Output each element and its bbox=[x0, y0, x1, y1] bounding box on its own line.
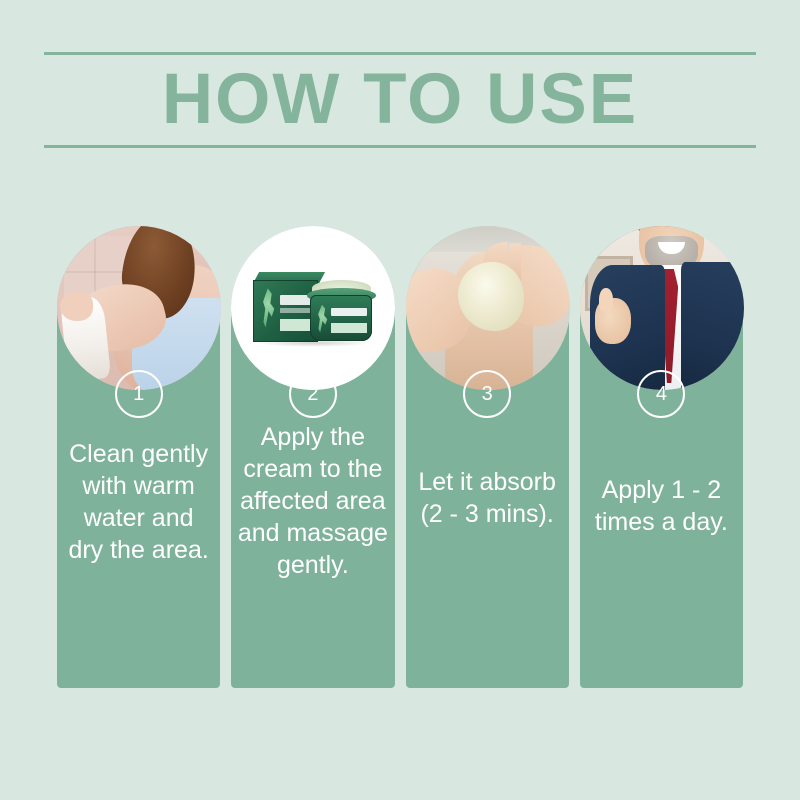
step-image-2 bbox=[231, 226, 395, 390]
step-image-3 bbox=[406, 226, 570, 390]
step-number-badge-1: 1 bbox=[115, 370, 163, 418]
step-caption-3: Let it absorb (2 - 3 mins). bbox=[412, 466, 563, 530]
how-to-use-infographic: HOW TO USE 1 Clean gently with warm wate… bbox=[0, 0, 800, 800]
step-number-badge-2: 2 bbox=[289, 370, 337, 418]
step-card-2: 2 Apply the cream to the affected area a… bbox=[231, 226, 394, 688]
step-card-4: 4 Apply 1 - 2 times a day. bbox=[580, 226, 743, 688]
step-card-3: 3 Let it absorb (2 - 3 mins). bbox=[406, 226, 569, 688]
illustration-man-thumbs-up bbox=[580, 226, 744, 390]
step-caption-2: Apply the cream to the affected area and… bbox=[237, 421, 388, 581]
header: HOW TO USE bbox=[44, 52, 756, 148]
illustration-knee-application bbox=[406, 226, 570, 390]
step-number-badge-4: 4 bbox=[637, 370, 685, 418]
step-card-1: 1 Clean gently with warm water and dry t… bbox=[57, 226, 220, 688]
steps-row: 1 Clean gently with warm water and dry t… bbox=[57, 226, 743, 688]
step-image-1 bbox=[57, 226, 221, 390]
step-number-badge-3: 3 bbox=[463, 370, 511, 418]
step-image-4 bbox=[580, 226, 744, 390]
illustration-woman-drying-arm bbox=[57, 226, 221, 390]
page-title: HOW TO USE bbox=[44, 55, 756, 145]
illustration-cream-product bbox=[231, 226, 395, 390]
step-caption-4: Apply 1 - 2 times a day. bbox=[586, 474, 737, 538]
title-rule-bottom bbox=[44, 145, 756, 148]
step-caption-1: Clean gently with warm water and dry the… bbox=[63, 438, 214, 566]
